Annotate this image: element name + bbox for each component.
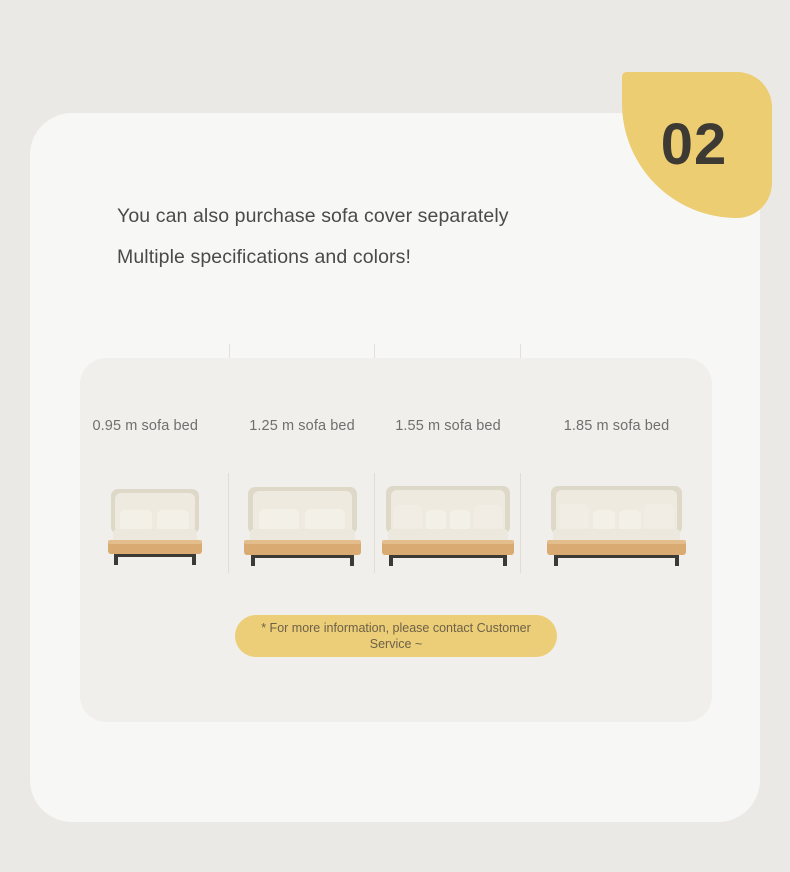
- product-label: 0.95 m sofa bed: [93, 418, 201, 436]
- sofa-bed-icon: [539, 474, 694, 571]
- product-column-0[interactable]: 0.95 m sofa bed: [80, 358, 229, 588]
- step-number-label: 02: [622, 116, 766, 174]
- sofa-bed-icon: [235, 474, 370, 571]
- column-tick-1: [229, 344, 230, 358]
- headline-secondary: Multiple specifications and colors!: [117, 246, 517, 269]
- headline-block: You can also purchase sofa cover separat…: [117, 205, 517, 269]
- product-column-1[interactable]: 1.25 m sofa bed: [229, 358, 375, 588]
- specification-panel: 0.95 m sofa bed 1.25 m sofa b: [80, 358, 712, 722]
- column-tick-2: [374, 344, 375, 358]
- product-label: 1.25 m sofa bed: [249, 418, 355, 436]
- product-column-3[interactable]: 1.85 m sofa bed: [521, 358, 712, 588]
- customer-service-cta[interactable]: * For more information, please contact C…: [235, 615, 557, 657]
- product-column-2[interactable]: 1.55 m sofa bed: [375, 358, 521, 588]
- sofa-bed-icon: [100, 474, 210, 571]
- sofa-bed-icon: [374, 474, 522, 571]
- headline-primary: You can also purchase sofa cover separat…: [117, 205, 517, 228]
- product-list: 0.95 m sofa bed 1.25 m sofa b: [80, 358, 712, 588]
- product-label: 1.55 m sofa bed: [395, 418, 501, 436]
- product-label: 1.85 m sofa bed: [564, 418, 670, 436]
- column-tick-3: [520, 344, 521, 358]
- cta-label: * For more information, please contact C…: [235, 620, 557, 652]
